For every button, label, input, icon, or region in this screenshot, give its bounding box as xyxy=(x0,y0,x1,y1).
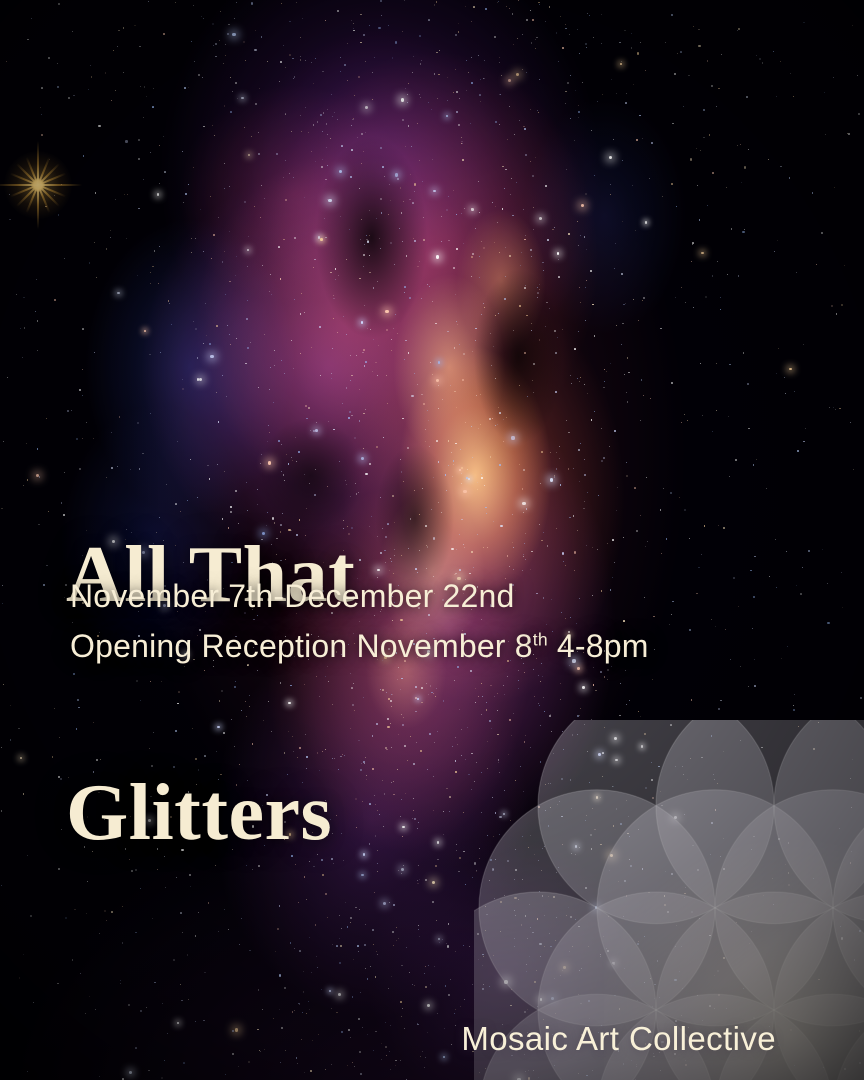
reception-ordinal-suffix: th xyxy=(533,629,548,649)
reception-prefix: Opening Reception November 8 xyxy=(70,628,533,664)
exhibition-date-range: November 7th-December 22nd xyxy=(70,578,515,615)
poster-canvas: All That Glitters November 7th-December … xyxy=(0,0,864,1080)
poster-content: All That Glitters November 7th-December … xyxy=(0,0,864,1080)
opening-reception-details: Opening Reception November 8th 4-8pm xyxy=(70,628,649,665)
reception-time: 4-8pm xyxy=(548,628,649,664)
organization-name: Mosaic Art Collective xyxy=(461,1020,776,1058)
headline-line-2: Glitters xyxy=(66,774,355,853)
page-title: All That Glitters xyxy=(66,378,355,1012)
